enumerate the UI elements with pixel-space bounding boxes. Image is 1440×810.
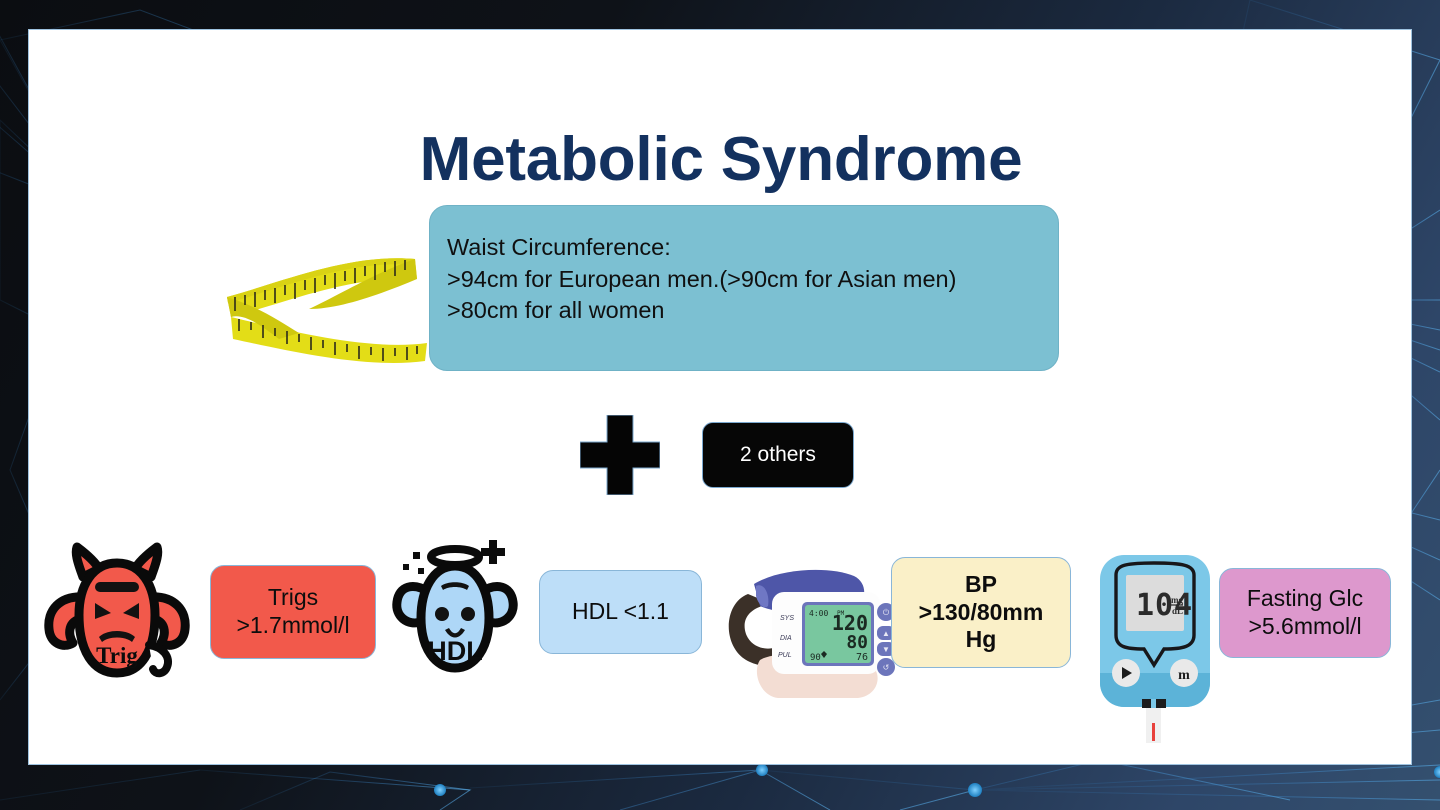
plus-icon [580,415,660,495]
waist-circumference-box: Waist Circumference: >94cm for European … [429,205,1059,371]
svg-text:▲: ▲ [882,629,890,638]
criterion-chip-hdl: HDL <1.1 [539,570,702,654]
waist-line-2: >94cm for European men.(>90cm for Asian … [447,264,1058,296]
glucometer-icon: 104 mg dL m [1096,553,1214,745]
chip-bp-line-1: BP [965,571,997,599]
svg-text:m: m [1178,668,1190,683]
page-title: Metabolic Syndrome [29,127,1413,192]
waist-line-1: Waist Circumference: [447,232,1058,264]
angel-hdl-icon: HDL [385,530,525,680]
chip-trigs-line-2: >1.7mmol/l [236,612,349,640]
chip-bp-line-3: Hg [966,626,997,654]
svg-text:4:00: 4:00 [809,609,828,618]
slide-canvas: Metabolic Syndrome Waist Circumference: … [0,0,1440,810]
blood-pressure-monitor-icon: 4:00 PM 120 80 76 90 SYS DIA PUL ⏻ [720,554,898,714]
two-others-label: 2 others [740,443,816,467]
svg-text:Trig: Trig [96,643,138,668]
svg-text:↺: ↺ [883,663,890,672]
chip-hdl-line-1: HDL <1.1 [572,598,669,626]
svg-text:SYS: SYS [780,615,794,622]
chip-trigs-line-1: Trigs [268,584,318,612]
measuring-tape-icon [219,235,439,370]
criterion-chip-blood-pressure: BP >130/80mm Hg [891,557,1071,668]
svg-text:dL: dL [1172,606,1183,616]
svg-text:DIA: DIA [780,635,792,642]
svg-text:mg: mg [1171,595,1183,605]
slide-content-panel: Metabolic Syndrome Waist Circumference: … [28,29,1412,765]
chip-glc-line-1: Fasting Glc [1247,585,1363,613]
chip-glc-line-2: >5.6mmol/l [1248,613,1361,641]
svg-text:⏻: ⏻ [883,608,890,617]
svg-text:76: 76 [856,652,868,663]
waist-line-3: >80cm for all women [447,295,1058,327]
criterion-chip-fasting-glucose: Fasting Glc >5.6mmol/l [1219,568,1391,658]
svg-text:90: 90 [810,653,821,663]
svg-text:104: 104 [1136,588,1193,623]
svg-text:80: 80 [846,632,868,653]
two-others-badge: 2 others [702,422,854,488]
svg-text:▼: ▼ [882,645,890,654]
criterion-chip-triglycerides: Trigs >1.7mmol/l [210,565,376,659]
angry-devil-trig-icon: Trig [37,533,197,693]
svg-text:HDL: HDL [427,636,483,666]
chip-bp-line-2: >130/80mm [919,599,1044,627]
svg-text:PUL: PUL [778,652,792,659]
